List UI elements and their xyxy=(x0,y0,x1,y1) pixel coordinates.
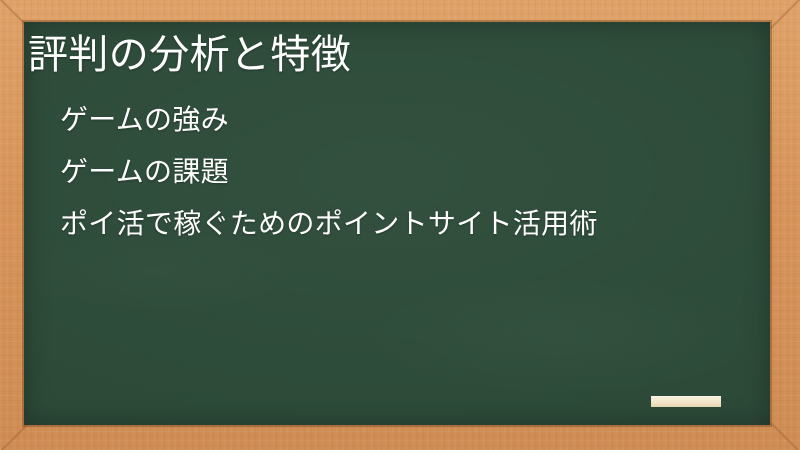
slide-content: 評判の分析と特徴 ゲームの強み ゲームの課題 ポイ活で稼ぐためのポイントサイト活… xyxy=(24,22,770,425)
page-title: 評判の分析と特徴 xyxy=(28,30,748,80)
list-item: ゲームの強み xyxy=(60,106,760,134)
frame-miter-top-right xyxy=(770,0,800,29)
bullet-list: ゲームの強み ゲームの課題 ポイ活で稼ぐためのポイントサイト活用術 xyxy=(60,106,760,238)
frame-miter-bottom-right xyxy=(770,422,800,450)
list-item: ポイ活で稼ぐためのポイントサイト活用術 xyxy=(60,210,760,238)
list-item: ゲームの課題 xyxy=(60,158,760,186)
chalkboard-slide: 評判の分析と特徴 ゲームの強み ゲームの課題 ポイ活で稼ぐためのポイントサイト活… xyxy=(0,0,800,450)
chalkboard-surface: 評判の分析と特徴 ゲームの強み ゲームの課題 ポイ活で稼ぐためのポイントサイト活… xyxy=(24,22,770,425)
chalk-eraser-icon xyxy=(651,396,721,407)
